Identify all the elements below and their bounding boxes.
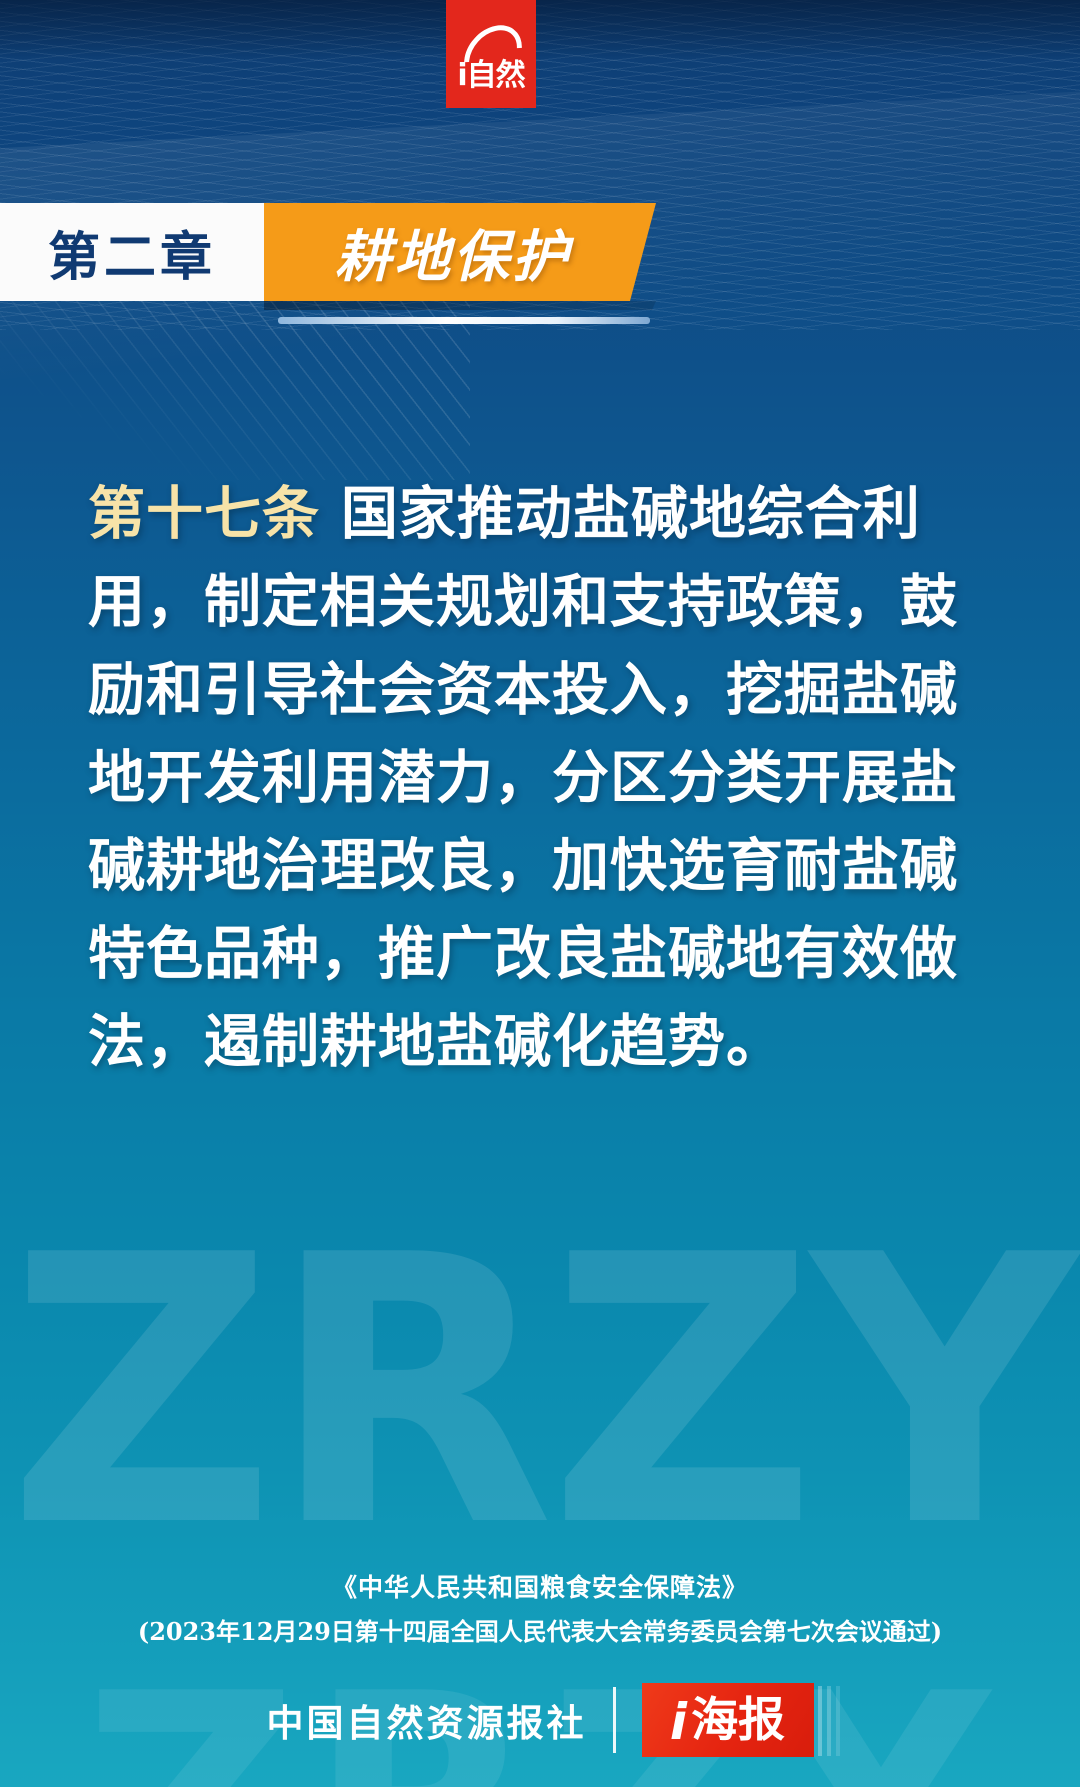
brand-divider [613, 1687, 616, 1753]
banner-underline-rule [278, 317, 650, 324]
ihaibao-text: 海报 [691, 1697, 785, 1744]
background-diagonal-hatch [0, 300, 470, 480]
logo-text: i自然 [457, 50, 524, 108]
chapter-number-label: 第二章 [48, 215, 216, 290]
chapter-banner: 第二章 耕地保护 [0, 203, 656, 301]
law-title: 《中华人民共和国粮食安全保障法》 [0, 1568, 1080, 1604]
ihaibao-i-letter: i [670, 1697, 687, 1747]
law-adoption-note: (2023年12月29日第十四届全国人民代表大会常务委员会第七次会议通过) [0, 1612, 1080, 1647]
footer-brand: 中国自然资源报社 i 海报 [0, 1672, 1080, 1768]
banner-drop-shadow [264, 301, 656, 310]
chapter-number-block: 第二章 [0, 203, 264, 301]
logo-chinese-text: 自然 [467, 58, 525, 93]
article-text: 第十七条 国家推动盐碱地综合利用，制定相关规划和支持政策，鼓励和引导社会资本投入… [88, 470, 992, 1086]
article-body: 国家推动盐碱地综合利用，制定相关规划和支持政策，鼓励和引导社会资本投入，挖掘盐碱… [88, 481, 958, 1075]
publisher-name: 中国自然资源报社 [267, 1693, 587, 1747]
chapter-title-label: 耕地保护 [335, 212, 571, 293]
background-top-shade [0, 0, 1080, 60]
i-ziran-logo: i自然 [446, 0, 536, 108]
source-citation: 《中华人民共和国粮食安全保障法》 (2023年12月29日第十四届全国人民代表大… [0, 1568, 1080, 1647]
article-number: 第十七条 [88, 481, 320, 547]
logo-i-letter: i [457, 58, 466, 93]
ihaibao-logo: i 海报 [642, 1683, 814, 1757]
chapter-title-block: 耕地保护 [264, 203, 656, 301]
watermark-zrzy: ZRZY [0, 1228, 1080, 1558]
poster-canvas: i自然 第二章 耕地保护 ZRZY ZRZY 第十七条 国家推动盐碱地综合利用，… [0, 0, 1080, 1787]
